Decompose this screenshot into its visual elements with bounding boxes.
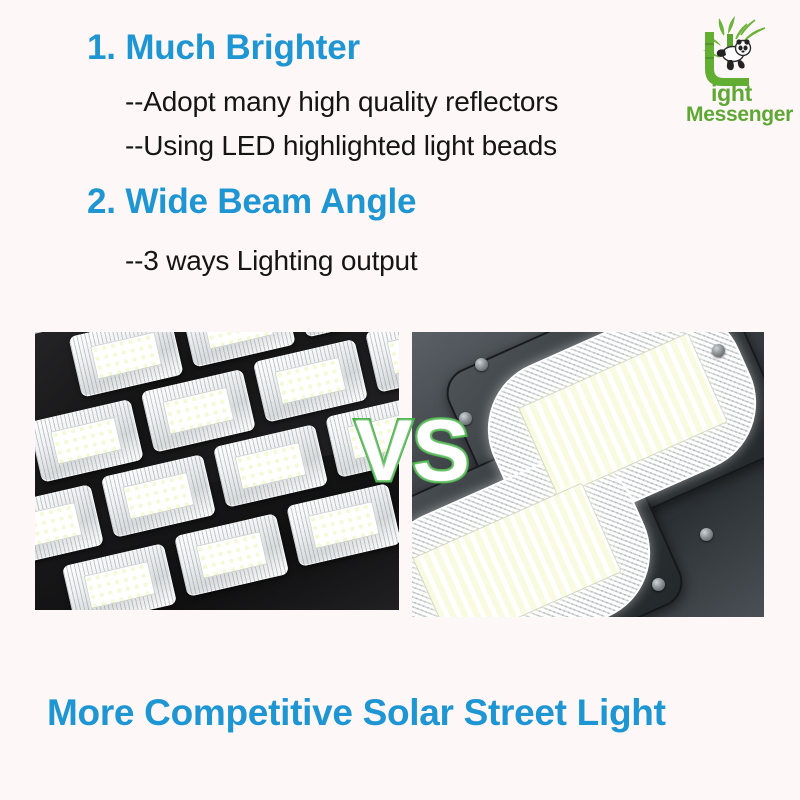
bottom-tagline: More Competitive Solar Street Light: [47, 692, 666, 734]
feature-1-bullet-2: --Using LED highlighted light beads: [125, 130, 557, 162]
led-chip-array: [90, 332, 163, 380]
led-chip-array: [234, 442, 307, 491]
reflector-cell: [141, 369, 256, 453]
logo-text-messenger: Messenger: [686, 104, 793, 125]
reflector-cell: [174, 513, 289, 597]
led-chip-array: [274, 356, 347, 405]
reflector-cell: [35, 484, 104, 568]
screw-icon: [700, 528, 713, 541]
reflector-cell: [213, 424, 328, 508]
panda-icon: [717, 39, 751, 70]
screw-icon: [475, 358, 488, 371]
led-chip-array: [386, 332, 399, 375]
feature-1-bullet-1: --Adopt many high quality reflectors: [125, 86, 558, 118]
led-chip-array: [122, 472, 195, 521]
feature-2-bullet-1: --3 ways Lighting output: [125, 245, 417, 277]
panda-bamboo-logo-icon: [683, 14, 773, 90]
led-chip-array: [202, 332, 275, 350]
reflector-cell: [62, 543, 177, 610]
led-chip-array: [162, 386, 235, 435]
led-chip-array: [35, 502, 83, 551]
logo-text-light: ight: [711, 82, 752, 105]
led-chip-array: [50, 416, 123, 465]
screw-icon: [652, 578, 665, 591]
led-chip-array: [195, 531, 268, 580]
product-feature-banner: ight Messenger 1. Much Brighter --Adopt …: [0, 0, 800, 800]
led-chip-array: [83, 561, 156, 610]
reflector-cell: [101, 454, 216, 538]
vs-label: VS: [355, 408, 470, 494]
reflector-cell: [365, 332, 399, 393]
reflector-cell: [253, 339, 368, 423]
feature-heading-2: 2. Wide Beam Angle: [87, 182, 416, 222]
brand-logo: ight Messenger: [683, 14, 793, 126]
reflector-cell-grid: [35, 332, 399, 610]
feature-heading-1: 1. Much Brighter: [87, 28, 360, 68]
multi-reflector-led-module-photo: [35, 332, 399, 610]
screw-icon: [712, 344, 725, 357]
led-chip-array: [307, 501, 380, 550]
